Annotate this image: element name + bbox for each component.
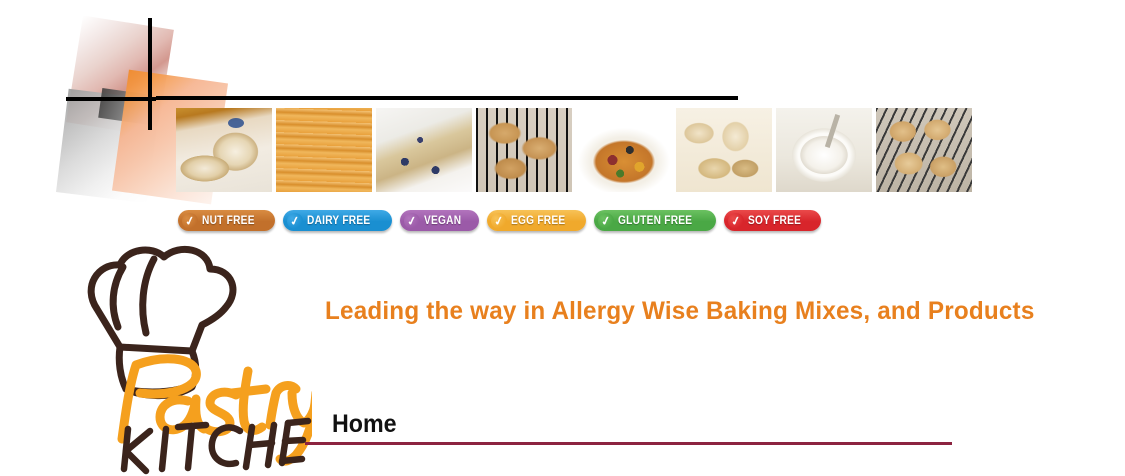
pancake-stack-photo-image [276, 108, 372, 192]
badge-soy-free[interactable]: ✓SOY FREE [724, 210, 821, 231]
cookies-cooling-rack-photo [476, 108, 572, 192]
badge-label: GLUTEN FREE [618, 215, 692, 227]
checkmark-icon: ✓ [726, 211, 745, 230]
badge-label: VEGAN [424, 215, 461, 227]
pastry-kitchen-logo[interactable] [60, 243, 312, 476]
veggie-pizza-photo-image [576, 108, 672, 192]
mixing-bowl-batter-photo [776, 108, 872, 192]
badge-label: EGG FREE [511, 215, 565, 227]
nav-item-home[interactable]: Home [332, 410, 397, 439]
sliced-bread-loaf-photo-image [176, 108, 272, 192]
sliced-bread-loaf-photo [176, 108, 272, 192]
decor-horizontal-rule [156, 96, 738, 100]
checkmark-icon: ✓ [181, 211, 200, 230]
main-navigation: Home [332, 410, 401, 439]
blueberry-cake-slice-photo [376, 108, 472, 192]
cookies-cooling-rack-photo-image [476, 108, 572, 192]
blueberry-cake-slice-photo-image [376, 108, 472, 192]
decor-horizontal-line-left [66, 97, 156, 101]
decor-vertical-line [148, 18, 152, 130]
badge-vegan[interactable]: ✓VEGAN [400, 210, 479, 231]
pancake-stack-photo [276, 108, 372, 192]
navigation-underline-rule [305, 442, 952, 445]
site-tagline: Leading the way in Allergy Wise Baking M… [325, 297, 946, 326]
mixing-bowl-batter-photo-image [776, 108, 872, 192]
checkmark-icon: ✓ [490, 211, 509, 230]
badge-egg-free[interactable]: ✓EGG FREE [487, 210, 586, 231]
checkmark-icon: ✓ [597, 211, 616, 230]
allergy-badge-row: ✓NUT FREE✓DAIRY FREE✓VEGAN✓EGG FREE✓GLUT… [178, 210, 829, 231]
badge-label: SOY FREE [748, 215, 801, 227]
badge-dairy-free[interactable]: ✓DAIRY FREE [283, 210, 392, 231]
muffins-tray-photo [876, 108, 972, 192]
muffins-tray-photo-image [876, 108, 972, 192]
food-photo-strip [176, 108, 972, 192]
assorted-breads-photo [676, 108, 772, 192]
badge-label: DAIRY FREE [307, 215, 370, 227]
badge-gluten-free[interactable]: ✓GLUTEN FREE [594, 210, 715, 231]
checkmark-icon: ✓ [285, 211, 304, 230]
checkmark-icon: ✓ [402, 211, 421, 230]
assorted-breads-photo-image [676, 108, 772, 192]
badge-label: NUT FREE [202, 215, 255, 227]
veggie-pizza-photo [576, 108, 672, 192]
badge-nut-free[interactable]: ✓NUT FREE [178, 210, 275, 231]
